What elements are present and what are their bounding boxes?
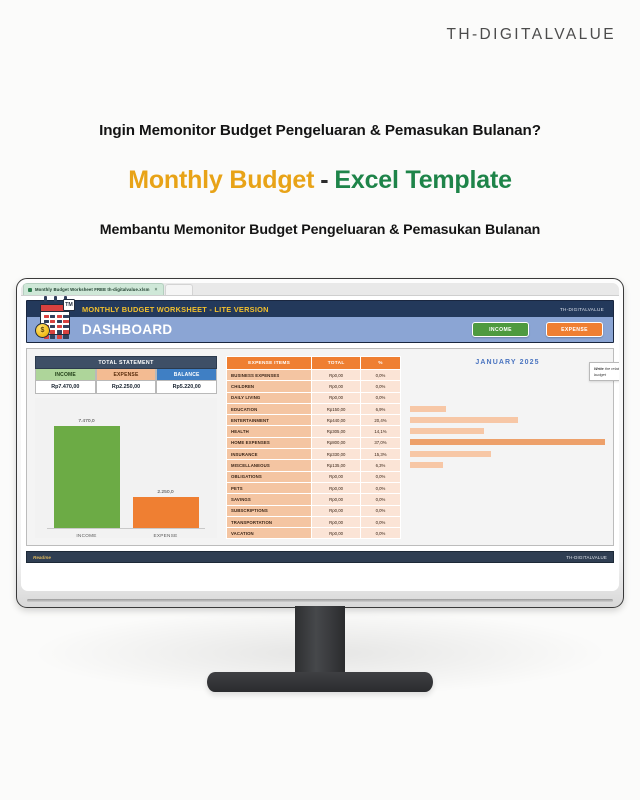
table-row: ENTERTAINMENTRp440,0020,4% <box>227 415 401 426</box>
cell-percent: 0,0% <box>360 381 400 392</box>
cell-percent: 6,9% <box>360 403 400 414</box>
headline-subtitle: Membantu Memonitor Budget Pengeluaran & … <box>0 222 640 238</box>
cell-total: Rp0,00 <box>312 370 361 381</box>
percent-bar-row <box>410 505 605 516</box>
cell-total: Rp135,00 <box>312 460 361 471</box>
total-statement-title: TOTAL STATEMENT <box>35 356 217 369</box>
file-tab-label: Monthly Budget Worksheet FREE th-digital… <box>35 287 150 292</box>
cell-total: Rp0,00 <box>312 505 361 516</box>
page-title: DASHBOARD <box>82 322 172 337</box>
total-statement-value-income: Rp7.470,00 <box>35 381 96 394</box>
cell-total: Rp800,00 <box>312 437 361 448</box>
table-row: SUBSCRIPTIONSRp0,000,0% <box>227 505 401 516</box>
cell-item: DAILY LIVING <box>227 392 312 403</box>
expense-table-header-row: EXPENSE ITEMS TOTAL % <box>227 357 401 370</box>
monitor-mockup: Monthly Budget Worksheet FREE th-digital… <box>0 278 640 608</box>
app-header-brand: TH-DIGITALVALUE <box>560 307 604 312</box>
cell-item: TRANSPORTATION <box>227 516 312 527</box>
monitor-base <box>207 672 433 692</box>
table-row: CHILDRENRp0,000,0% <box>227 381 401 392</box>
table-row: OBLIGATIONSRp0,000,0% <box>227 471 401 482</box>
percent-bar-row <box>410 403 605 414</box>
percent-bar-chart <box>410 369 605 538</box>
cell-item: INSURANCE <box>227 449 312 460</box>
app-title: MONTHLY BUDGET WORKSHEET - LITE VERSION <box>82 305 269 314</box>
percent-bar-row <box>410 425 605 436</box>
headline-title-gold: Monthly Budget <box>128 166 314 194</box>
axis-label-income: INCOME <box>54 533 120 538</box>
cell-total: Rp0,00 <box>312 494 361 505</box>
percent-bar <box>410 439 605 445</box>
cell-percent: 0,0% <box>360 370 400 381</box>
cell-item: SAVINGS <box>227 494 312 505</box>
workbook-tab-strip: Monthly Budget Worksheet FREE th-digital… <box>21 283 619 296</box>
col-header-expense-items: EXPENSE ITEMS <box>227 357 312 370</box>
cell-item: PETS <box>227 482 312 493</box>
percent-bar-row <box>410 380 605 391</box>
app-header: TM $ MONTHLY BUDGET WORKSHEET - LITE VER… <box>26 300 614 343</box>
percent-bar-row <box>410 448 605 459</box>
percent-bar <box>410 417 518 423</box>
total-statement-col-balance: BALANCE <box>156 369 217 381</box>
bar-column-income: 7.470,0 <box>54 419 120 528</box>
total-statement-value-balance: Rp5.220,00 <box>156 381 217 394</box>
monitor-neck <box>295 606 345 678</box>
col-header-total: TOTAL <box>312 357 361 370</box>
total-statement-header-row: INCOME Rp7.470,00 EXPENSE Rp2.250,00 BAL… <box>35 369 217 394</box>
percent-bar-row <box>410 414 605 425</box>
cell-percent: 37,0% <box>360 437 400 448</box>
table-row: HOME EXPENSESRp800,0037,0% <box>227 437 401 448</box>
headline-title-green: Excel Template <box>334 166 511 194</box>
percent-bar-row <box>410 392 605 403</box>
workbook-canvas: TM $ MONTHLY BUDGET WORKSHEET - LITE VER… <box>21 296 619 591</box>
monitor-screen: Monthly Budget Worksheet FREE th-digital… <box>21 283 619 591</box>
cell-item: ENTERTAINMENT <box>227 415 312 426</box>
cell-item: VACATION <box>227 528 312 539</box>
percent-bar-row <box>410 493 605 504</box>
percent-bar-row <box>410 527 605 538</box>
axis-label-expense: EXPENSE <box>133 533 199 538</box>
bar-chart-axis-labels: INCOME EXPENSE <box>47 533 205 538</box>
cell-item: BUSINESS EXPENSES <box>227 370 312 381</box>
table-row: BUSINESS EXPENSESRp0,000,0% <box>227 370 401 381</box>
percent-bar <box>410 406 446 412</box>
cell-percent: 0,0% <box>360 494 400 505</box>
table-row: MISCELLANEOUSRp135,006,3% <box>227 460 401 471</box>
bezel-lip <box>27 599 613 602</box>
expense-items-table: EXPENSE ITEMS TOTAL % BUSINESS EXPENSESR… <box>226 356 401 538</box>
footer-brand: TH-DIGITALVALUE <box>566 555 607 560</box>
cell-total: Rp0,00 <box>312 471 361 482</box>
cell-percent: 6,3% <box>360 460 400 471</box>
cell-item: OBLIGATIONS <box>227 471 312 482</box>
app-footer: Readme TH-DIGITALVALUE <box>26 551 614 563</box>
table-row: TRANSPORTATIONRp0,000,0% <box>227 516 401 527</box>
header-button-group: INCOME EXPENSE <box>472 322 603 337</box>
cell-percent: 0,0% <box>360 516 400 527</box>
table-row: SAVINGSRp0,000,0% <box>227 494 401 505</box>
cell-percent: 20,4% <box>360 415 400 426</box>
cell-total: Rp305,00 <box>312 426 361 437</box>
bar-column-expense: 2.250,0 <box>133 490 199 528</box>
headline-title: Monthly Budget-Excel Template <box>0 166 640 195</box>
trademark-badge-icon: TM <box>63 299 75 311</box>
excel-file-icon <box>28 288 32 292</box>
cell-total: Rp440,00 <box>312 415 361 426</box>
percent-bar-row <box>410 459 605 470</box>
close-icon[interactable]: × <box>155 287 158 293</box>
headline-question: Ingin Memonitor Budget Pengeluaran & Pem… <box>0 122 640 139</box>
readme-link[interactable]: Readme <box>33 555 51 560</box>
percent-bar-row <box>410 516 605 527</box>
table-row: INSURANCERp330,0015,3% <box>227 449 401 460</box>
expense-button[interactable]: EXPENSE <box>546 322 603 337</box>
cell-percent: 15,3% <box>360 449 400 460</box>
col-header-percent: % <box>360 357 400 370</box>
cell-percent: 0,0% <box>360 528 400 539</box>
bar-expense <box>133 497 199 528</box>
income-expense-bar-chart: 7.470,0 2.250,0 INCOME EXPENSE <box>35 398 217 538</box>
table-row: VACATIONRp0,000,0% <box>227 528 401 539</box>
cell-item: EDUCATION <box>227 403 312 414</box>
cell-total: Rp0,00 <box>312 516 361 527</box>
cell-total: Rp0,00 <box>312 528 361 539</box>
bar-value-expense: 2.250,0 <box>157 490 173 495</box>
cell-percent: 0,0% <box>360 471 400 482</box>
cell-total: Rp0,00 <box>312 482 361 493</box>
headline-title-dash: - <box>320 166 328 194</box>
cell-percent: 0,0% <box>360 505 400 516</box>
calendar-money-icon: TM $ <box>35 299 75 338</box>
cell-total: Rp0,00 <box>312 392 361 403</box>
cell-percent: 0,0% <box>360 482 400 493</box>
cell-item: SUBSCRIPTIONS <box>227 505 312 516</box>
dashboard-content-panel: TOTAL STATEMENT INCOME Rp7.470,00 EXPENS… <box>26 348 614 546</box>
table-row: HEALTHRp305,0014,1% <box>227 426 401 437</box>
table-row: EDUCATIONRp150,006,9% <box>227 403 401 414</box>
month-label: JANUARY 2025 <box>475 359 539 366</box>
cell-item: HEALTH <box>227 426 312 437</box>
percent-bar-row <box>410 482 605 493</box>
percent-bar <box>410 451 491 457</box>
table-row: DAILY LIVINGRp0,000,0% <box>227 392 401 403</box>
expense-table-body: BUSINESS EXPENSESRp0,000,0%CHILDRENRp0,0… <box>227 370 401 539</box>
coin-icon: $ <box>35 323 50 338</box>
total-statement-value-expense: Rp2.250,00 <box>96 381 157 394</box>
percent-bar-row <box>410 471 605 482</box>
percent-bar-row <box>410 437 605 448</box>
cell-item: HOME EXPENSES <box>227 437 312 448</box>
month-and-bars-section: JANUARY 2025 <box>410 356 605 538</box>
percent-bar <box>410 428 484 434</box>
cell-percent: 14,1% <box>360 426 400 437</box>
cell-item: MISCELLANEOUS <box>227 460 312 471</box>
percent-bar <box>410 462 443 468</box>
cell-total: Rp150,00 <box>312 403 361 414</box>
total-statement-col-income: INCOME <box>35 369 96 381</box>
table-row: PETSRp0,000,0% <box>227 482 401 493</box>
app-header-top: MONTHLY BUDGET WORKSHEET - LITE VERSION … <box>27 301 613 317</box>
callout-note: Write the related to make the budget <box>589 362 619 381</box>
cell-total: Rp330,00 <box>312 449 361 460</box>
cell-item: CHILDREN <box>227 381 312 392</box>
app-header-bottom: DASHBOARD INCOME EXPENSE <box>27 317 613 342</box>
new-tab-button[interactable] <box>165 284 193 295</box>
cell-percent: 0,0% <box>360 392 400 403</box>
headline-block: Ingin Memonitor Budget Pengeluaran & Pem… <box>0 122 640 238</box>
bar-chart-plot: 7.470,0 2.250,0 <box>47 408 205 529</box>
total-statement-section: TOTAL STATEMENT INCOME Rp7.470,00 EXPENS… <box>35 356 217 538</box>
monitor-bezel: Monthly Budget Worksheet FREE th-digital… <box>16 278 624 608</box>
bar-value-income: 7.470,0 <box>78 419 94 424</box>
bar-income <box>54 426 120 528</box>
percent-bar-row <box>410 369 605 380</box>
cell-total: Rp0,00 <box>312 381 361 392</box>
file-tab[interactable]: Monthly Budget Worksheet FREE th-digital… <box>23 283 164 295</box>
income-button[interactable]: INCOME <box>472 322 529 337</box>
total-statement-col-expense: EXPENSE <box>96 369 157 381</box>
callout-bold-word: Write <box>594 366 604 371</box>
brand-wordmark: TH-DIGITALVALUE <box>447 26 617 44</box>
